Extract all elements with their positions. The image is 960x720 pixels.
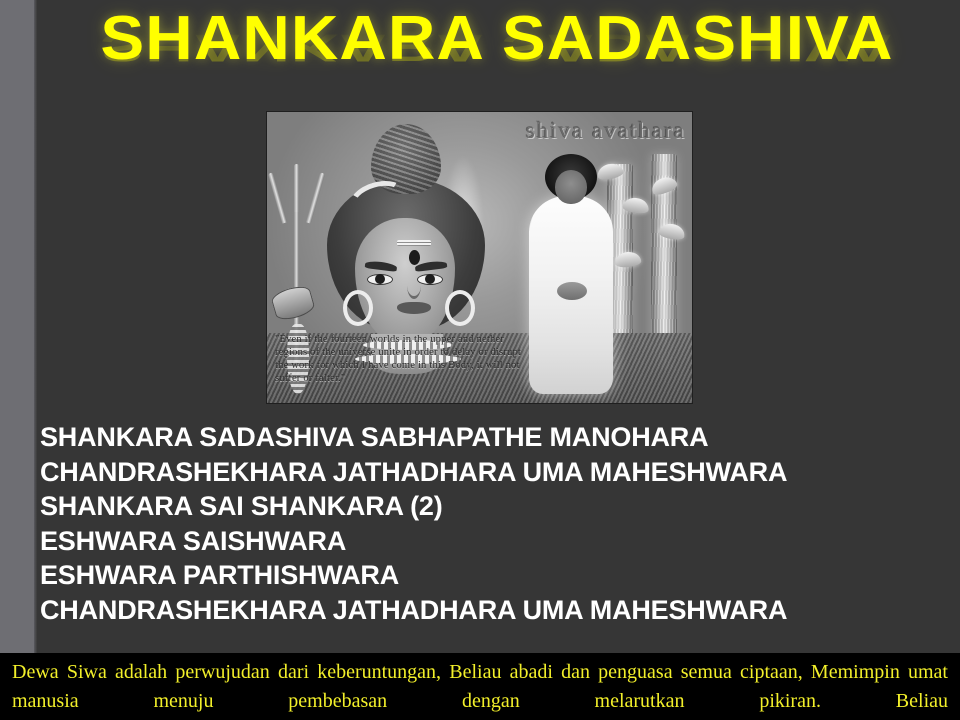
damaru-drum-icon [270, 283, 317, 323]
sai-baba-figure [523, 154, 617, 394]
page-title: SHANKARA SADASHIVA [6, 2, 960, 70]
shiva-pupil-right [425, 274, 435, 284]
sai-face [555, 170, 587, 204]
earring-left-icon [343, 290, 373, 326]
lyric-line: ESHWARA SAISHWARA [40, 524, 958, 559]
image-quote: "Even if the fourteen worlds in the uppe… [275, 333, 525, 385]
lyrics-block: SHANKARA SADASHIVA SABHAPATHE MANOHARA C… [40, 420, 958, 627]
earring-right-icon [445, 290, 475, 326]
lyric-line: SHANKARA SAI SHANKARA (2) [40, 489, 958, 524]
trishul-prong [294, 164, 299, 216]
caption-bar: Dewa Siwa adalah perwujudan dari keberun… [0, 653, 960, 720]
lyric-line: CHANDRASHEKHARA JATHADHARA UMA MAHESHWAR… [40, 455, 958, 490]
caption-text: Dewa Siwa adalah perwujudan dari keberun… [12, 658, 948, 720]
shiva-nose [407, 272, 421, 299]
bindi-icon [409, 250, 420, 265]
image-heading: shiva avathara [526, 118, 686, 144]
left-decorative-band [0, 0, 34, 653]
lyric-line: SHANKARA SADASHIVA SABHAPATHE MANOHARA [40, 420, 958, 455]
sai-hands [557, 282, 587, 300]
lyric-line: ESHWARA PARTHISHWARA [40, 558, 958, 593]
title-area: SHANKARA SADASHIVA SHANKARA SADASHIVA [34, 2, 960, 98]
shiva-mouth [397, 302, 431, 314]
shiva-avathara-image: shiva avathara "Even if the fourteen wor… [267, 112, 692, 403]
tilak-icon [397, 240, 431, 246]
shiva-pupil-left [375, 274, 385, 284]
slide: SHANKARA SADASHIVA SHANKARA SADASHIVA [0, 0, 960, 720]
lyric-line: CHANDRASHEKHARA JATHADHARA UMA MAHESHWAR… [40, 593, 958, 628]
